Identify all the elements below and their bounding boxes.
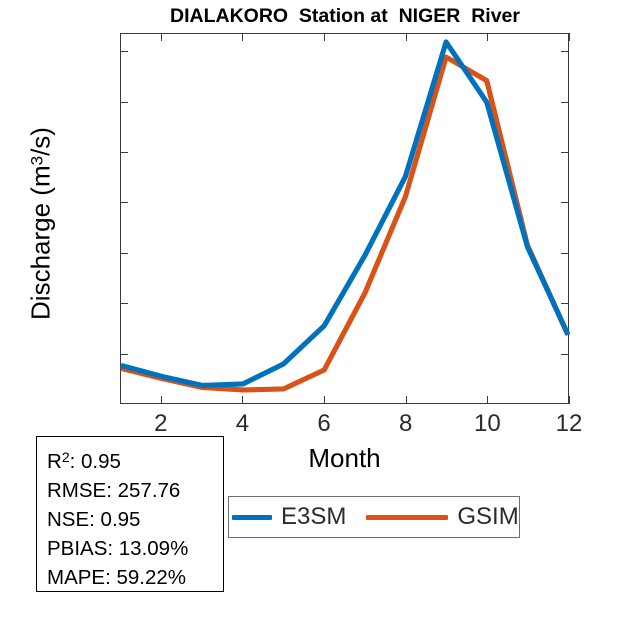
y-axis-label-exponent: 3 <box>28 156 47 165</box>
y-tick-1000 <box>120 303 128 304</box>
chart-title: DIALAKORO Station at NIGER River <box>120 5 570 28</box>
legend-swatch-gsim <box>366 515 448 520</box>
x-tick-top-4 <box>242 33 243 41</box>
y-tick-500 <box>120 354 128 355</box>
x-tick-8 <box>406 396 407 404</box>
y-axis-label-suffix: /s) <box>26 127 56 156</box>
stat-r2-exponent: 2 <box>62 449 70 465</box>
stat-r2: R2: 0.95 <box>47 443 223 476</box>
x-tick-label-8: 8 <box>376 410 436 438</box>
y-tick-2000 <box>120 202 128 203</box>
figure-canvas: DIALAKORO Station at NIGER River Dischar… <box>0 0 625 625</box>
x-tick-4 <box>242 396 243 404</box>
y-tick-right-1000 <box>561 303 569 304</box>
x-tick-label-12: 12 <box>539 410 599 438</box>
y-tick-right-500 <box>561 354 569 355</box>
stat-pbias: PBIAS: 13.09% <box>47 534 223 563</box>
x-tick-top-12 <box>569 33 570 41</box>
x-tick-top-8 <box>406 33 407 41</box>
stat-nse: NSE: 0.95 <box>47 505 223 534</box>
y-axis-label: Discharge (m3/s) <box>26 74 57 374</box>
statistics-box: R2: 0.95 RMSE: 257.76 NSE: 0.95 PBIAS: 1… <box>36 436 224 592</box>
stat-r2-label: R <box>47 450 62 473</box>
y-axis-label-prefix: Discharge (m <box>26 165 56 320</box>
y-tick-right-2500 <box>561 152 569 153</box>
y-tick-right-3000 <box>561 102 569 103</box>
y-tick-right-1500 <box>561 253 569 254</box>
x-tick-label-10: 10 <box>457 410 517 438</box>
legend-swatch-e3sm <box>232 515 272 520</box>
x-tick-label-6: 6 <box>294 410 354 438</box>
series-line-gsim <box>121 57 568 390</box>
x-tick-10 <box>487 396 488 404</box>
x-tick-label-2: 2 <box>131 410 191 438</box>
legend-label-e3sm: E3SM <box>281 503 346 531</box>
y-tick-2500 <box>120 152 128 153</box>
y-tick-3500 <box>120 51 128 52</box>
legend-label-gsim: GSIM <box>457 503 518 531</box>
y-tick-right-3500 <box>561 51 569 52</box>
stat-rmse: RMSE: 257.76 <box>47 476 223 505</box>
y-tick-right-2000 <box>561 202 569 203</box>
chart-legend: E3SM GSIM <box>228 496 520 538</box>
legend-entry-gsim[interactable]: GSIM <box>366 497 518 537</box>
y-tick-3000 <box>120 102 128 103</box>
plot-inner <box>121 34 568 403</box>
x-tick-label-4: 4 <box>212 410 272 438</box>
legend-entry-e3sm[interactable]: E3SM <box>232 497 346 537</box>
stat-mape: MAPE: 59.22% <box>47 563 223 592</box>
plot-area <box>120 33 569 404</box>
x-tick-6 <box>324 396 325 404</box>
x-tick-top-10 <box>487 33 488 41</box>
stat-r2-value: : 0.95 <box>70 450 121 473</box>
x-tick-12 <box>569 396 570 404</box>
x-tick-top-6 <box>324 33 325 41</box>
y-tick-1500 <box>120 253 128 254</box>
x-tick-top-2 <box>161 33 162 41</box>
x-tick-2 <box>161 396 162 404</box>
series-layer <box>121 34 568 403</box>
